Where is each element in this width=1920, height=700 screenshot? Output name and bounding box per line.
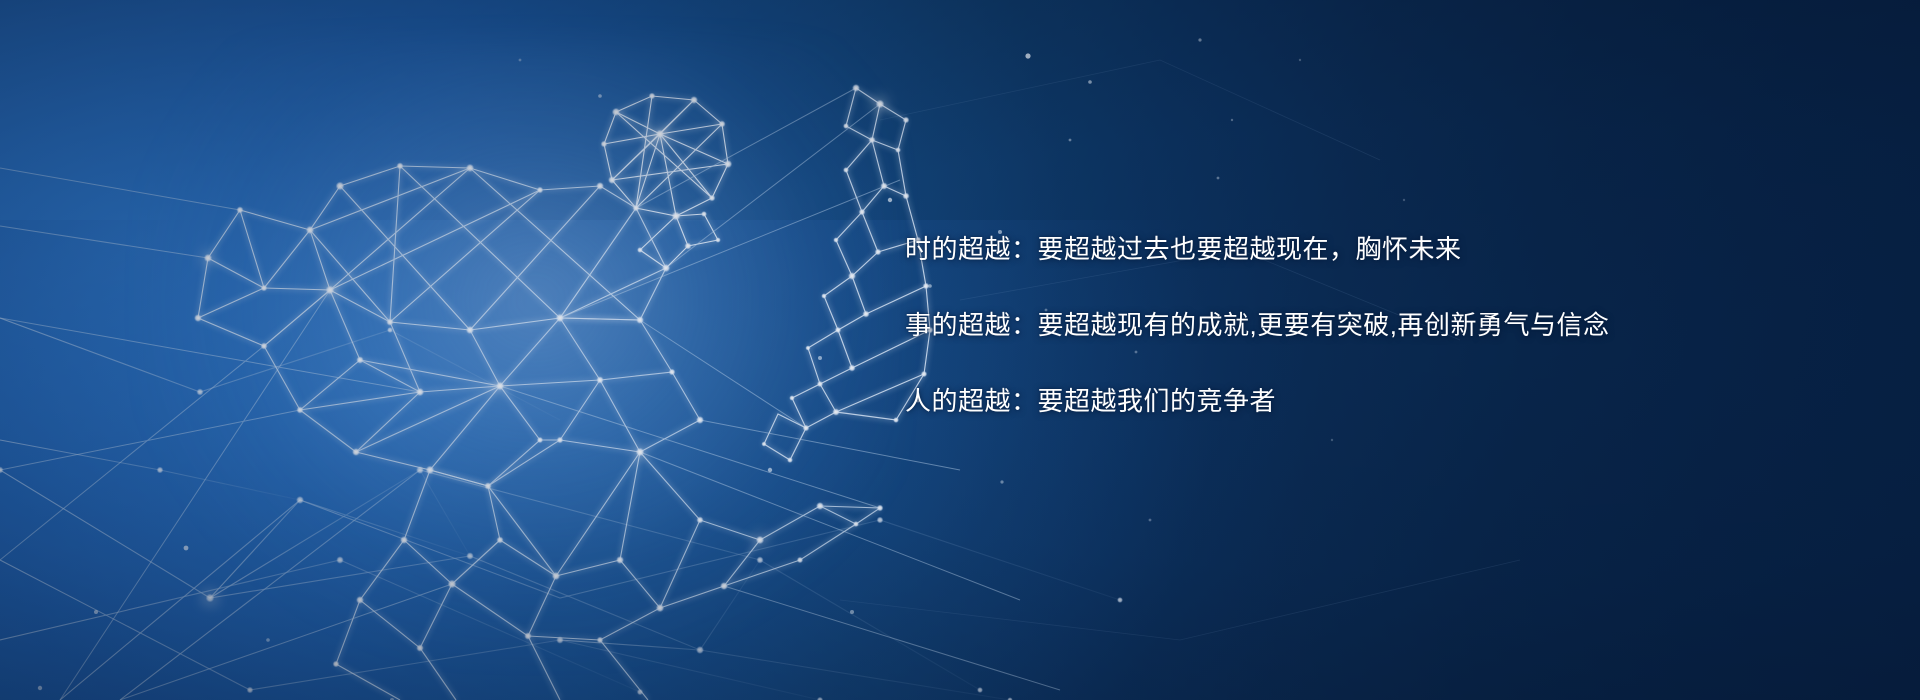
banner-copy-line-3: 人的超越：要超越我们的竞争者 xyxy=(905,388,1805,414)
hero-banner: 时的超越：要超越过去也要超越现在，胸怀未来 事的超越：要超越现有的成就,更要有突… xyxy=(0,0,1920,700)
banner-copy-block: 时的超越：要超越过去也要超越现在，胸怀未来 事的超越：要超越现有的成就,更要有突… xyxy=(905,236,1805,414)
banner-copy-line-1: 时的超越：要超越过去也要超越现在，胸怀未来 xyxy=(905,236,1805,262)
banner-copy-line-2: 事的超越：要超越现有的成就,更要有突破,再创新勇气与信念 xyxy=(905,312,1805,338)
